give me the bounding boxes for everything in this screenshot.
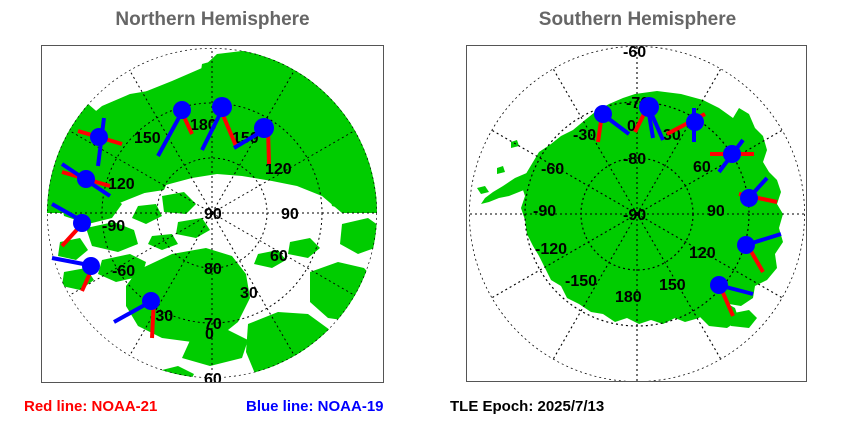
legend-red-line: Red line: NOAA-21 — [24, 398, 157, 415]
lon-label-s60w: -60 — [541, 161, 564, 178]
lon-label-s60e: 60 — [693, 159, 711, 176]
lon-label-n60w: -60 — [112, 263, 135, 280]
lat-label-80: 80 — [204, 261, 222, 278]
south-map-svg: -90 -80 -70 -60 -150 -120 -90 -60 -30 0 … — [467, 46, 806, 381]
lat-label-90: 90 — [204, 206, 222, 223]
lat-label-m90: -90 — [623, 207, 646, 224]
lon-label-n90e: 90 — [281, 206, 299, 223]
northern-hemisphere-panel: Northern Hemisphere — [0, 0, 425, 425]
lat-label-m60: -60 — [623, 46, 646, 61]
lat-label-60: 60 — [204, 371, 222, 382]
lon-label-n0: 0 — [205, 326, 214, 343]
lon-label-s150e: 150 — [659, 277, 686, 294]
lon-label-n120w: 120 — [108, 176, 135, 193]
north-map-svg: 90 80 70 60 150 120 -90 -60 -30 0 30 60 … — [42, 46, 383, 382]
lon-label-n60e: 60 — [270, 248, 288, 265]
lon-label-s90e: 90 — [707, 203, 725, 220]
page-title-north: Northern Hemisphere — [0, 9, 425, 31]
southern-hemisphere-panel: Southern Hemisphere — [425, 0, 850, 425]
tle-epoch-label: TLE Epoch: 2025/7/13 — [450, 398, 604, 415]
lon-label-s150w: -150 — [565, 273, 597, 290]
lon-label-n90w: -90 — [102, 218, 125, 235]
lon-label-s90w: -90 — [533, 203, 556, 220]
lon-label-s180: 180 — [615, 289, 642, 306]
south-map-plot: -90 -80 -70 -60 -150 -120 -90 -60 -30 0 … — [466, 45, 807, 382]
lon-label-s120w: -120 — [535, 241, 567, 258]
page-title-south: Southern Hemisphere — [425, 9, 850, 31]
lat-label-m80: -80 — [623, 151, 646, 168]
lon-label-n30e: 30 — [240, 285, 258, 302]
lon-label-n150w: 150 — [134, 130, 161, 147]
lon-label-s30w: -30 — [573, 127, 596, 144]
legend-blue-line: Blue line: NOAA-19 — [246, 398, 384, 415]
lon-label-s120e: 120 — [689, 245, 716, 262]
north-map-plot: 90 80 70 60 150 120 -90 -60 -30 0 30 60 … — [41, 45, 384, 383]
